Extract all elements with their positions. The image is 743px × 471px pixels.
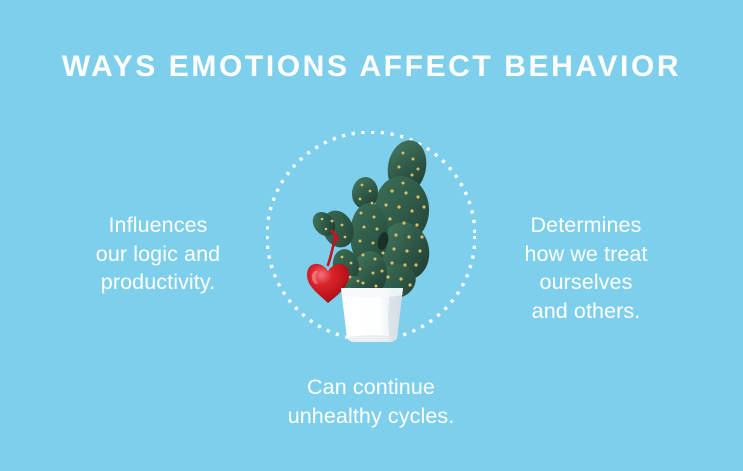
- determines-treatment-caption: Determines how we treat ourselves and ot…: [496, 211, 676, 325]
- prickly-pear-cactus-illustration: [266, 131, 476, 343]
- influences-logic-caption: Influences our logic and productivity.: [68, 211, 248, 297]
- caption-line: and others.: [496, 297, 676, 326]
- caption-line: how we treat: [496, 240, 676, 269]
- caption-line: Can continue: [256, 373, 486, 402]
- caption-line: productivity.: [68, 268, 248, 297]
- page-title: WAYS EMOTIONS AFFECT BEHAVIOR: [0, 50, 743, 84]
- infographic-poster: WAYS EMOTIONS AFFECT BEHAVIOR Influences…: [0, 0, 743, 471]
- caption-line: Determines: [496, 211, 676, 240]
- unhealthy-cycles-caption: Can continue unhealthy cycles.: [256, 373, 486, 430]
- illustration-stage: [266, 131, 476, 343]
- caption-line: Influences: [68, 211, 248, 240]
- caption-line: ourselves: [496, 268, 676, 297]
- caption-line: our logic and: [68, 240, 248, 269]
- caption-line: unhealthy cycles.: [256, 402, 486, 431]
